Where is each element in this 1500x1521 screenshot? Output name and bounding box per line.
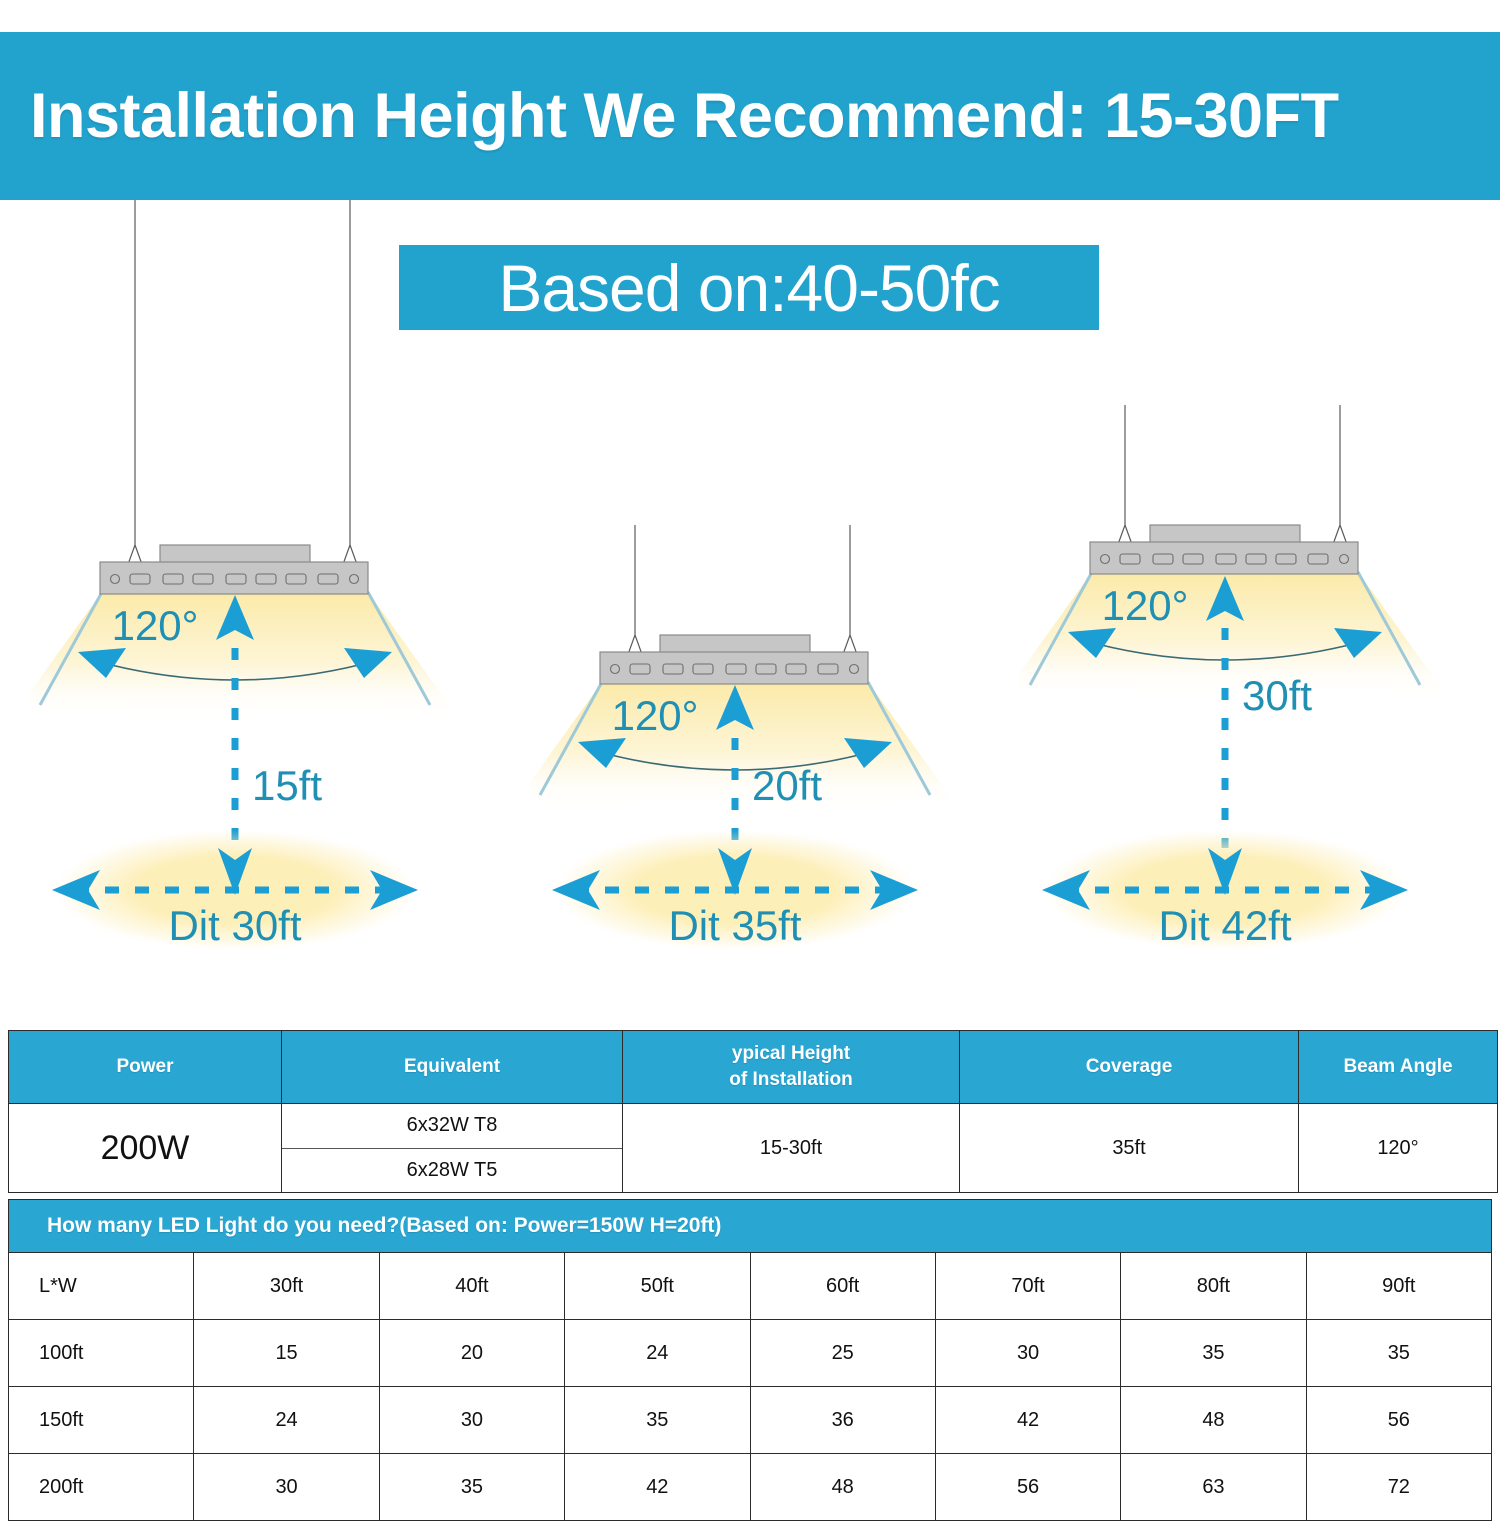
diagram-20ft: 120° 20ft Dit 35ft bbox=[530, 110, 1010, 1000]
count-table-body: 100ft15202425303535150ft2430353642485620… bbox=[9, 1320, 1492, 1521]
count-column-header: 50ft bbox=[565, 1253, 750, 1320]
count-cell: 63 bbox=[1121, 1454, 1306, 1521]
beam-angle-label: 120° bbox=[1102, 582, 1189, 629]
coverage-label: Dit 35ft bbox=[668, 902, 801, 949]
count-row-label: 150ft bbox=[9, 1387, 194, 1454]
spec-header-equivalent: Equivalent bbox=[282, 1031, 623, 1104]
spec-header-beam-angle: Beam Angle bbox=[1299, 1031, 1498, 1104]
count-column-header: 40ft bbox=[379, 1253, 564, 1320]
height-label: 15ft bbox=[252, 762, 322, 809]
spec-table: Power Equivalent ypical Height of Instal… bbox=[8, 1030, 1498, 1193]
count-cell: 42 bbox=[565, 1454, 750, 1521]
hanging-wire-right bbox=[333, 200, 367, 592]
fixture-screw-left bbox=[111, 575, 120, 584]
spec-header-typical-line1: ypical Height bbox=[623, 1041, 959, 1067]
count-cell: 48 bbox=[750, 1454, 935, 1521]
spec-table-row: 200W 6x32W T8 6x28W T5 15-30ft 35ft 120° bbox=[9, 1104, 1498, 1193]
count-column-header: 90ft bbox=[1306, 1253, 1491, 1320]
spec-cell-power: 200W bbox=[9, 1104, 282, 1193]
count-table: How many LED Light do you need?(Based on… bbox=[8, 1199, 1492, 1521]
count-column-header: 80ft bbox=[1121, 1253, 1306, 1320]
count-cell: 56 bbox=[935, 1454, 1120, 1521]
count-row-label: 100ft bbox=[9, 1320, 194, 1387]
count-column-header: 60ft bbox=[750, 1253, 935, 1320]
count-cell: 48 bbox=[1121, 1387, 1306, 1454]
spec-tables: Power Equivalent ypical Height of Instal… bbox=[8, 1030, 1492, 1521]
table-row: 200ft30354248566372 bbox=[9, 1454, 1492, 1521]
spec-table-header-row: Power Equivalent ypical Height of Instal… bbox=[9, 1031, 1498, 1104]
count-cell: 36 bbox=[750, 1387, 935, 1454]
led-fixture bbox=[1090, 525, 1358, 574]
count-cell: 35 bbox=[565, 1387, 750, 1454]
based-on-label: Based on:40-50fc bbox=[498, 250, 999, 326]
count-cell: 24 bbox=[565, 1320, 750, 1387]
beam-angle-label: 120° bbox=[112, 602, 199, 649]
spec-header-coverage: Coverage bbox=[960, 1031, 1299, 1104]
based-on-banner: Based on:40-50fc bbox=[399, 245, 1099, 330]
spec-cell-equivalent: 6x32W T8 6x28W T5 bbox=[282, 1104, 623, 1193]
spec-header-typical-height: ypical Height of Installation bbox=[623, 1031, 960, 1104]
spec-cell-typical-height: 15-30ft bbox=[623, 1104, 960, 1193]
spec-cell-beam-angle: 120° bbox=[1299, 1104, 1498, 1193]
height-label: 20ft bbox=[752, 762, 822, 809]
spec-cell-coverage: 35ft bbox=[960, 1104, 1299, 1193]
count-cell: 25 bbox=[750, 1320, 935, 1387]
hanging-wire-left bbox=[118, 200, 152, 592]
count-table-subhead-row: How many LED Light do you need?(Based on… bbox=[9, 1200, 1492, 1253]
spec-header-power: Power bbox=[9, 1031, 282, 1104]
count-cell: 35 bbox=[1306, 1320, 1491, 1387]
spec-cell-equivalent-1: 6x32W T8 bbox=[282, 1104, 622, 1149]
count-cell: 30 bbox=[194, 1454, 379, 1521]
count-cell: 30 bbox=[379, 1387, 564, 1454]
count-cell: 30 bbox=[935, 1320, 1120, 1387]
height-label: 30ft bbox=[1242, 672, 1312, 719]
count-table-subhead-label: How many LED Light do you need?(Based on… bbox=[9, 1214, 1491, 1238]
led-fixture bbox=[100, 545, 368, 594]
count-cell: 20 bbox=[379, 1320, 564, 1387]
coverage-label: Dit 42ft bbox=[1158, 902, 1291, 949]
count-table-header-row: L*W 30ft40ft50ft60ft70ft80ft90ft bbox=[9, 1253, 1492, 1320]
count-cell: 72 bbox=[1306, 1454, 1491, 1521]
table-row: 150ft24303536424856 bbox=[9, 1387, 1492, 1454]
count-cell: 35 bbox=[1121, 1320, 1306, 1387]
coverage-label: Dit 30ft bbox=[168, 902, 301, 949]
count-cell: 56 bbox=[1306, 1387, 1491, 1454]
count-cell: 35 bbox=[379, 1454, 564, 1521]
table-row: 100ft15202425303535 bbox=[9, 1320, 1492, 1387]
spec-header-typical-line2: of Installation bbox=[623, 1067, 959, 1093]
fixture-screw-left bbox=[1101, 555, 1110, 564]
fixture-screw-right bbox=[850, 665, 859, 674]
led-fixture bbox=[600, 635, 868, 684]
count-corner-label: L*W bbox=[9, 1253, 194, 1320]
spec-cell-equivalent-2: 6x28W T5 bbox=[282, 1149, 622, 1193]
beam-angle-label: 120° bbox=[612, 692, 699, 739]
count-column-header: 70ft bbox=[935, 1253, 1120, 1320]
fixture-screw-right bbox=[350, 575, 359, 584]
count-cell: 24 bbox=[194, 1387, 379, 1454]
fixture-screw-right bbox=[1340, 555, 1349, 564]
diagram-30ft: 120° 30ft Dit 42ft bbox=[1020, 20, 1500, 1010]
fixture-screw-left bbox=[611, 665, 620, 674]
count-column-header: 30ft bbox=[194, 1253, 379, 1320]
count-table-subhead: How many LED Light do you need?(Based on… bbox=[9, 1200, 1492, 1253]
count-cell: 15 bbox=[194, 1320, 379, 1387]
count-cell: 42 bbox=[935, 1387, 1120, 1454]
count-row-label: 200ft bbox=[9, 1454, 194, 1521]
